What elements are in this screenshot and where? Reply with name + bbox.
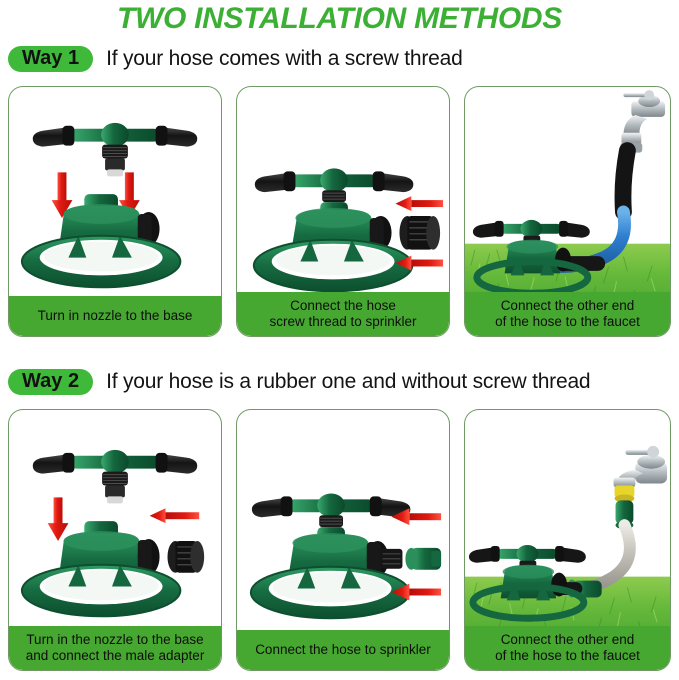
caption-line: Turn in the nozzle to the base (26, 632, 203, 647)
red-arrow-left (150, 508, 200, 523)
caption-way1-step1: Turn in nozzle to the base (9, 296, 221, 336)
hose-black-end (623, 151, 627, 212)
caption-line: of the hose to the faucet (495, 314, 640, 329)
caption-line: screw thread to sprinkler (269, 314, 416, 329)
red-arrow-down (48, 497, 69, 541)
sprinkler-rotor-head (33, 123, 197, 176)
way-1-description: If your hose comes with a screw thread (106, 47, 463, 71)
caption-text: Connect the other end of the hose to the… (495, 632, 640, 664)
panel-way1-step2: Connect the hose screw thread to sprinkl… (236, 86, 450, 337)
sprinkler-rotor-head (33, 450, 197, 503)
caption-text: Connect the hose screw thread to sprinkl… (269, 298, 416, 330)
page-title: TWO INSTALLATION METHODS (0, 0, 679, 38)
quick-connect-coupling (405, 548, 449, 570)
caption-way1-step2: Connect the hose screw thread to sprinkl… (237, 292, 449, 336)
panel-way2-step2: Connect the hose to sprinkler (236, 409, 450, 671)
red-arrow-left-top (396, 196, 444, 211)
way-2-badge: Way 2 (8, 369, 93, 395)
panel-way2-step1: Turn in the nozzle to the base and conne… (8, 409, 222, 671)
way-1-badge: Way 1 (8, 46, 93, 72)
caption-way2-step1: Turn in the nozzle to the base and conne… (9, 626, 221, 670)
faucet-adapter-yellow (615, 486, 635, 503)
caption-way2-step2: Connect the hose to sprinkler (237, 630, 449, 670)
caption-line: and connect the male adapter (26, 648, 205, 663)
caption-line: Connect the hose (290, 298, 396, 313)
caption-text: Connect the other end of the hose to the… (495, 298, 640, 330)
way-2-description: If your hose is a rubber one and without… (106, 370, 590, 394)
male-adapter (168, 541, 205, 573)
panel-way1-step3: Connect the other end of the hose to the… (464, 86, 671, 337)
sprinkler-base (22, 521, 181, 616)
panel-way2-step3: Connect the other end of the hose to the… (464, 409, 671, 671)
panel-way1-step1: Turn in nozzle to the base (8, 86, 222, 337)
sprinkler-assembled (251, 493, 410, 618)
sprinkler-assembled (254, 168, 413, 291)
caption-line: Connect the hose to sprinkler (255, 642, 431, 658)
way-2-header: Way 2 If your hose is a rubber one and w… (8, 365, 590, 399)
caption-way1-step3: Connect the other end of the hose to the… (465, 292, 670, 336)
caption-text: Turn in the nozzle to the base and conne… (26, 632, 205, 664)
caption-line: Connect the other end (501, 632, 635, 647)
caption-line: Turn in nozzle to the base (38, 308, 193, 324)
caption-way2-step3: Connect the other end of the hose to the… (465, 626, 670, 670)
sprinkler-base (22, 194, 181, 287)
caption-line: Connect the other end (501, 298, 635, 313)
caption-line: of the hose to the faucet (495, 648, 640, 663)
way-1-header: Way 1 If your hose comes with a screw th… (8, 42, 463, 76)
infographic-page: TWO INSTALLATION METHODS Way 1 If your h… (0, 0, 679, 680)
outdoor-faucet (614, 446, 667, 488)
hose-screw-connector (399, 216, 440, 250)
